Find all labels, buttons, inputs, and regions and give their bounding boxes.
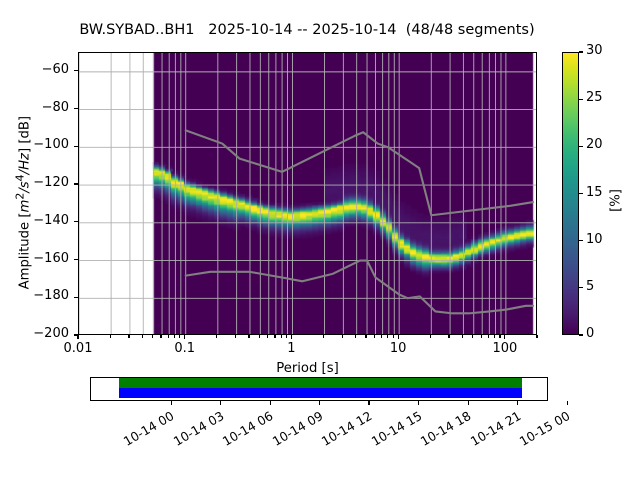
x-tick-mark [430,335,431,338]
x-tick-label: 0.1 [174,341,195,356]
x-axis-label: Period [s] [78,361,537,376]
x-tick-mark [110,335,111,338]
x-tick-mark [179,335,180,338]
x-tick-mark [488,335,489,338]
timeline-tick-mark [468,401,469,405]
colorbar-tick-mark [579,287,583,288]
timeline-tick-mark [418,401,419,405]
x-tick-mark [398,335,399,339]
nhnm-curve [186,130,533,215]
x-tick-mark [291,335,292,339]
colorbar-tick-mark [579,240,583,241]
x-tick-mark [536,335,537,338]
y-tick-label: −100 [33,137,69,152]
colorbar-label: [%] [609,141,624,261]
y-tick-mark [74,108,78,109]
nlnm-curve [186,261,533,314]
x-tick-mark [342,335,343,338]
colorbar-gradient [563,53,578,334]
x-tick-mark [448,335,449,338]
timeline-bar-blue [119,388,522,398]
colorbar [562,52,579,335]
ppsd-plot-area [78,52,537,335]
x-tick-mark [259,335,260,338]
x-tick-mark [494,335,495,338]
x-tick-mark [184,335,185,339]
x-tick-label: 1 [287,341,295,356]
x-tick-label: 10 [390,341,407,356]
timeline-bar-green [119,378,522,388]
x-tick-mark [216,335,217,338]
timeline-tick-mark [270,401,271,405]
x-tick-mark [462,335,463,338]
colorbar-tick-mark [579,146,583,147]
timeline-tick-mark [220,401,221,405]
x-tick-mark [499,335,500,338]
colorbar-tick-label: 10 [586,232,603,247]
y-tick-mark [74,70,78,71]
x-tick-mark [235,335,236,338]
x-tick-mark [365,335,366,338]
x-tick-label: 100 [492,341,517,356]
y-tick-mark [74,259,78,260]
x-tick-mark [323,335,324,338]
x-tick-mark [374,335,375,338]
x-tick-mark [504,335,505,339]
x-tick-mark [355,335,356,338]
y-tick-label: −160 [33,251,69,266]
y-tick-label: −200 [33,326,69,341]
colorbar-tick-label: 0 [586,326,594,341]
x-tick-mark [142,335,143,338]
y-tick-label: −60 [42,62,69,77]
timeline-tick-mark [319,401,320,405]
colorbar-tick-label: 5 [586,279,594,294]
y-tick-mark [74,146,78,147]
y-tick-label: −120 [33,175,69,190]
x-tick-mark [274,335,275,338]
y-tick-mark [74,221,78,222]
x-tick-mark [160,335,161,338]
timeline-tick-mark [368,401,369,405]
colorbar-tick-mark [579,99,583,100]
y-axis-label: Amplitude [m2/s4/Hz] [dB] [13,73,32,333]
x-tick-mark [281,335,282,338]
x-tick-mark [472,335,473,338]
y-tick-label: −140 [33,213,69,228]
x-tick-label: 0.01 [64,341,93,356]
x-tick-mark [481,335,482,338]
x-tick-mark [248,335,249,338]
timeline-tick-mark [567,401,568,405]
x-tick-mark [381,335,382,338]
timeline-tick-mark [517,401,518,405]
x-tick-mark [152,335,153,338]
colorbar-tick-mark [579,334,583,335]
x-tick-mark [286,335,287,338]
x-tick-mark [393,335,394,338]
y-tick-mark [74,183,78,184]
x-tick-mark [387,335,388,338]
ppsd-figure: BW.SYBAD..BH1 2025-10-14 -- 2025-10-14 (… [0,0,640,480]
x-tick-mark [128,335,129,338]
page-title: BW.SYBAD..BH1 2025-10-14 -- 2025-10-14 (… [0,22,614,38]
timeline-tick-mark [171,401,172,405]
noise-model-curves [79,53,537,335]
colorbar-tick-label: 30 [586,43,603,58]
x-tick-mark [77,335,78,339]
segment-timeline [90,377,548,401]
x-tick-mark [267,335,268,338]
colorbar-tick-label: 20 [586,137,603,152]
y-tick-mark [74,297,78,298]
y-tick-label: −80 [42,100,69,115]
colorbar-tick-mark [579,51,583,52]
y-tick-label: −180 [33,288,69,303]
colorbar-tick-label: 15 [586,185,603,200]
colorbar-tick-mark [579,193,583,194]
colorbar-tick-label: 25 [586,90,603,105]
x-tick-mark [168,335,169,338]
x-tick-mark [174,335,175,338]
